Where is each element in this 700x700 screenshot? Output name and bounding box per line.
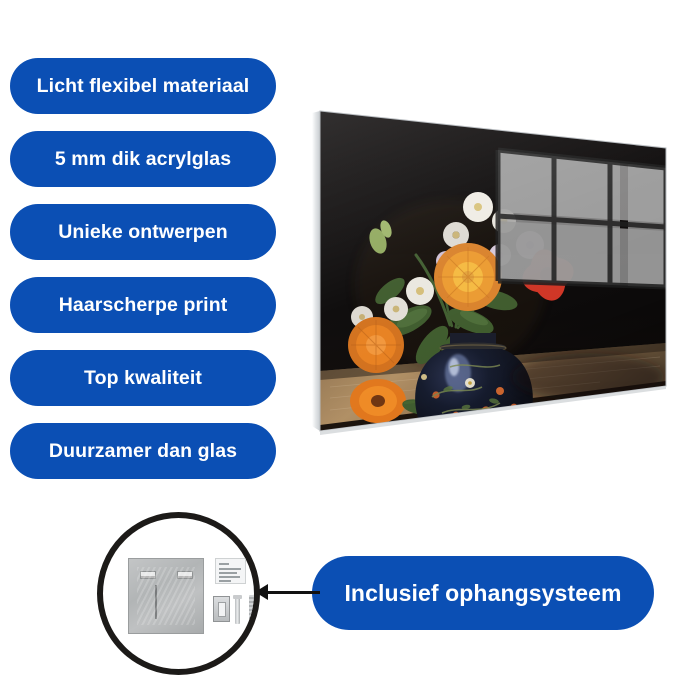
mounting-plate (128, 558, 204, 634)
feature-pill-haarscherpe-print[interactable]: Haarscherpe print (10, 277, 276, 333)
feature-pill-label: 5 mm dik acrylglas (55, 148, 231, 171)
feature-pill-label: Licht flexibel materiaal (37, 75, 250, 98)
feature-pill-licht-flexibel-materiaal[interactable]: Licht flexibel materiaal (10, 58, 276, 114)
acrylic-panel (300, 95, 680, 445)
product-marketing-canvas: Licht flexibel materiaal 5 mm dik acrylg… (0, 0, 700, 700)
mounting-plate-marking (155, 585, 157, 619)
callout-pill-label: Inclusief ophangsysteem (344, 580, 621, 607)
feature-pill-label: Unieke ontwerpen (58, 221, 228, 244)
feature-pill-label: Top kwaliteit (84, 367, 202, 390)
feature-pill-label: Duurzamer dan glas (49, 440, 237, 463)
mounting-kit-photo (103, 518, 254, 669)
wall-bracket (213, 596, 230, 622)
mounting-plate-slot (140, 571, 156, 579)
acrylic-edge-thickness (312, 111, 320, 431)
acrylic-panel-render (300, 95, 680, 445)
mounting-plate-slot (177, 571, 193, 579)
feature-pill-duurzamer-dan-glas[interactable]: Duurzamer dan glas (10, 423, 276, 479)
feature-pill-5-mm-dik-acrylglas[interactable]: 5 mm dik acrylglas (10, 131, 276, 187)
mounting-kit-circle (97, 512, 260, 675)
feature-pill-unieke-ontwerpen[interactable]: Unieke ontwerpen (10, 204, 276, 260)
feature-pill-top-kwaliteit[interactable]: Top kwaliteit (10, 350, 276, 406)
wall-plug (249, 595, 256, 622)
instruction-leaflet (215, 558, 246, 584)
feature-pill-label: Haarscherpe print (59, 294, 228, 317)
callout-leader-line (262, 591, 320, 594)
screw (235, 595, 240, 624)
callout-pill-inclusief-ophangsysteem[interactable]: Inclusief ophangsysteem (312, 556, 654, 630)
